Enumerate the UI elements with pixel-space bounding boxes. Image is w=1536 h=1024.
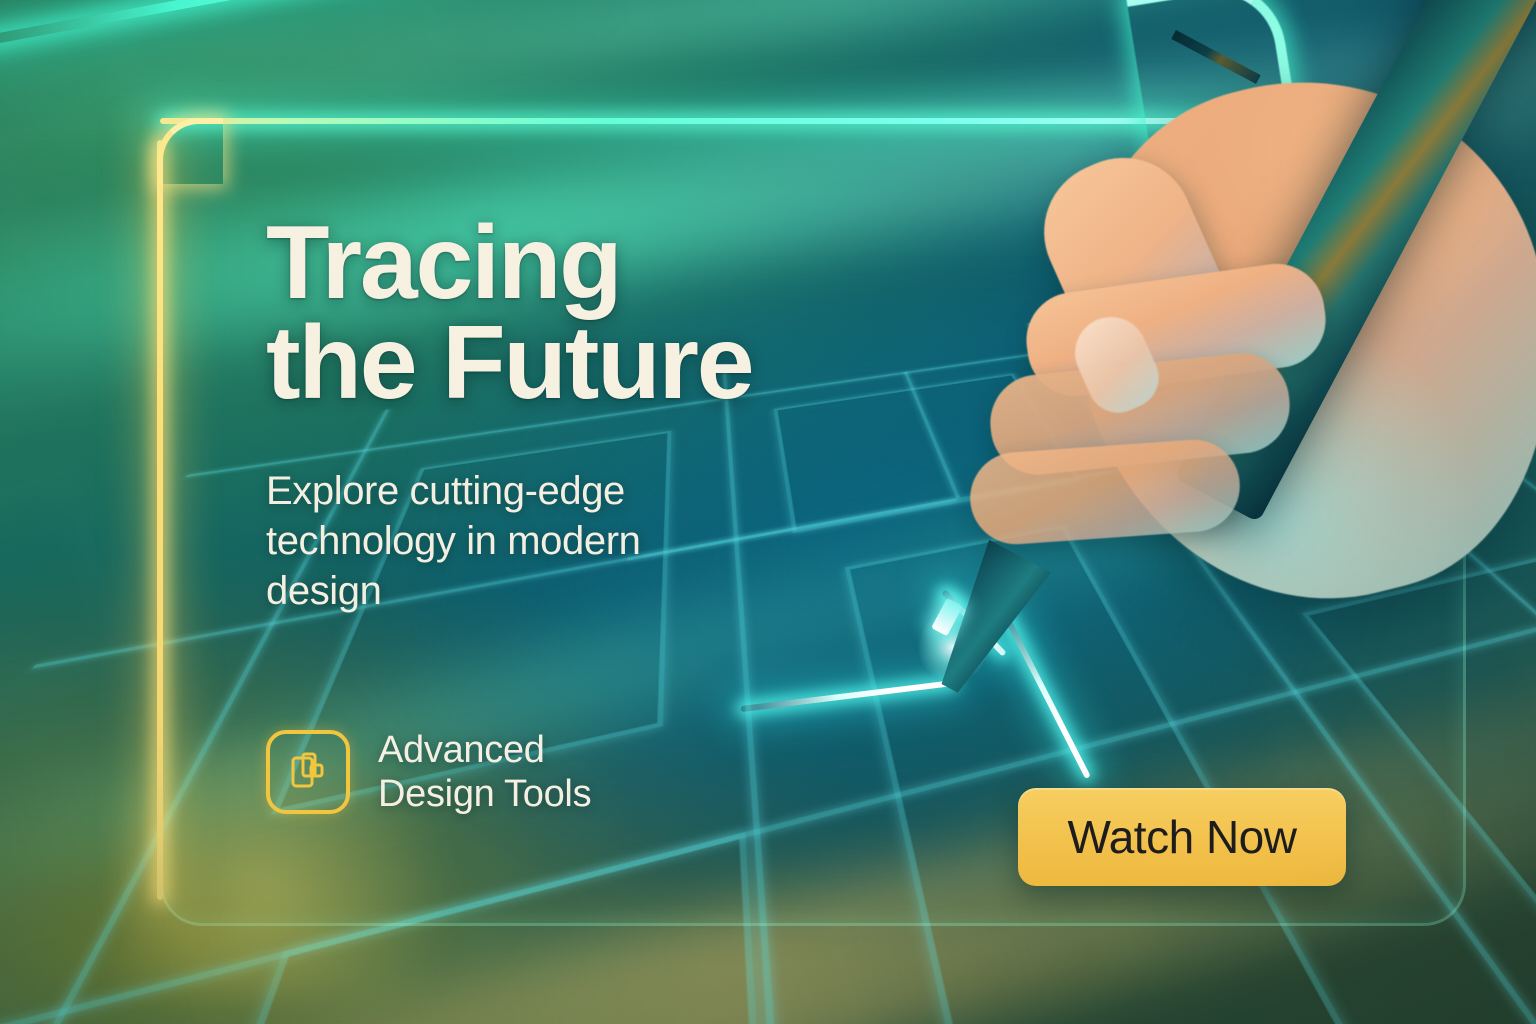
design-tools-icon (266, 730, 350, 814)
feature-badge: Advanced Design Tools (266, 728, 591, 817)
subtitle: Explore cutting-edge technology in moder… (266, 466, 736, 616)
ring-finger (967, 437, 1243, 548)
badge-label-line-2: Design Tools (378, 773, 591, 815)
headline-line-1: Tracing (266, 205, 621, 321)
page-title: Tracing the Future (266, 214, 866, 414)
badge-label-line-1: Advanced (378, 729, 545, 771)
feature-badge-label: Advanced Design Tools (378, 728, 591, 817)
headline-line-2: the Future (266, 305, 752, 421)
stylus-band (1171, 30, 1260, 84)
neon-frame-left-edge (157, 140, 163, 900)
hand-holding-stylus (930, 0, 1536, 650)
promo-banner: Tracing the Future Explore cutting-edge … (0, 0, 1536, 1024)
text-block: Tracing the Future Explore cutting-edge … (266, 214, 866, 616)
watch-now-button[interactable]: Watch Now (1018, 788, 1346, 886)
